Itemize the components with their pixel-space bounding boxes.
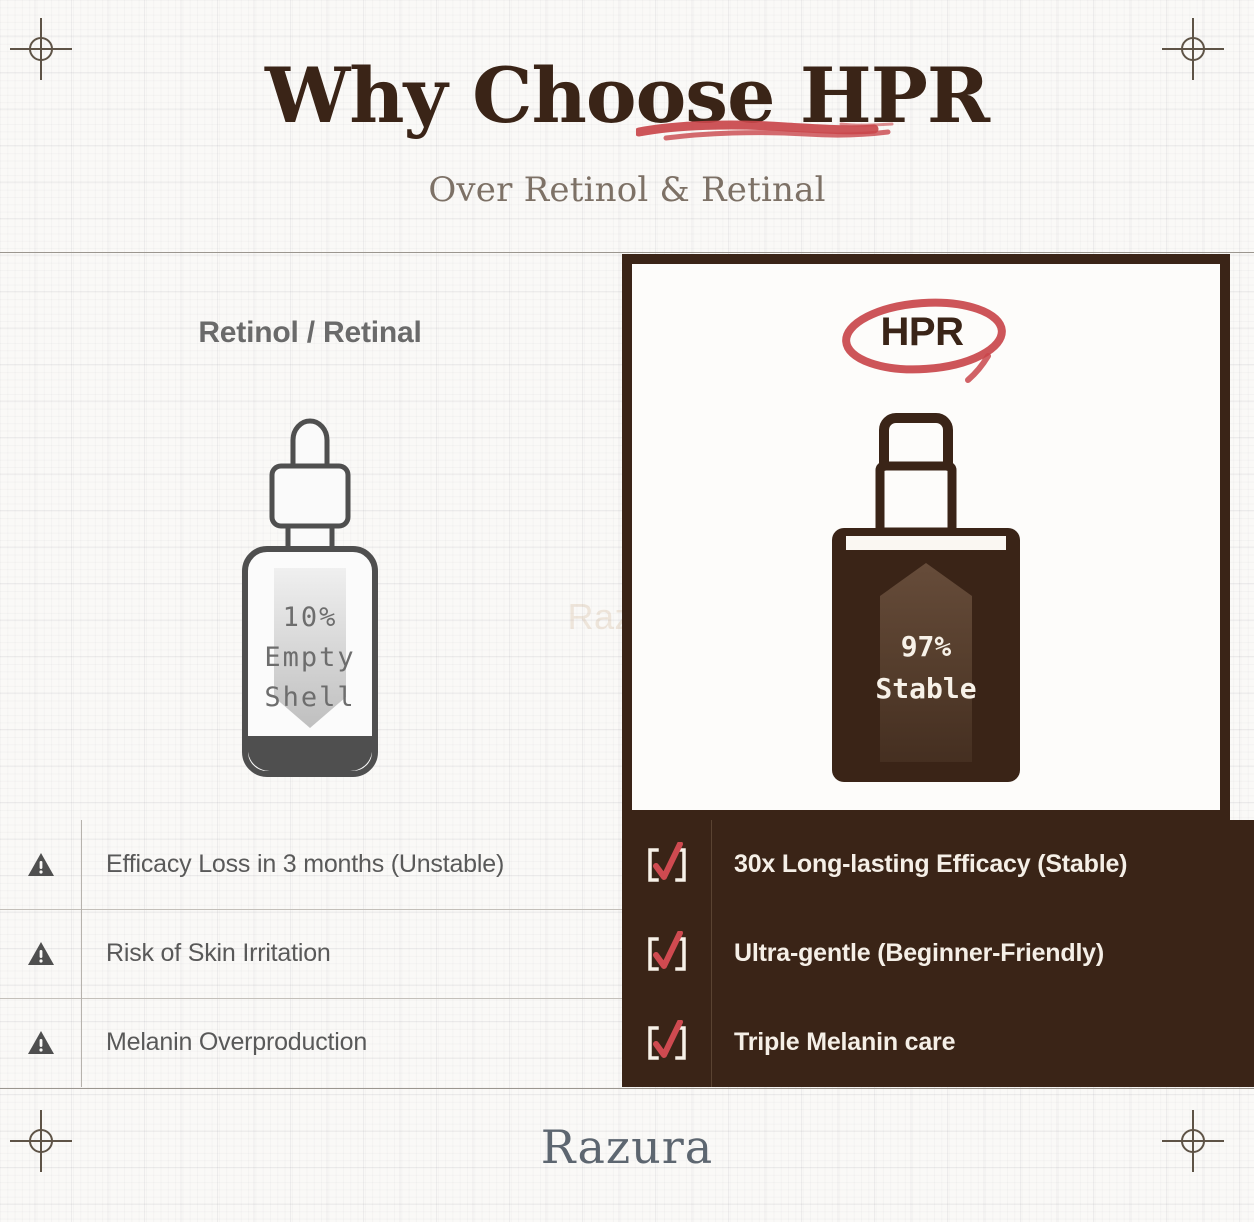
retinol-heading: Retinol / Retinal xyxy=(0,316,620,350)
dropper-bottle-icon: 10% Empty Shell xyxy=(231,416,389,788)
retinol-column: Retinol / Retinal xyxy=(0,254,620,820)
red-check-bracket-icon xyxy=(622,909,712,998)
retinol-line3: Shell xyxy=(264,682,355,713)
comparison-rows: Efficacy Loss in 3 months (Unstable) 30x… xyxy=(0,820,1254,1088)
retinol-cell: Melanin Overproduction xyxy=(0,998,622,1087)
hpr-line2: Stable xyxy=(875,672,976,705)
hpr-cell: 30x Long-lasting Efficacy (Stable) xyxy=(622,820,1254,909)
page-subtitle: Over Retinol & Retinal xyxy=(0,170,1254,210)
hpr-badge: HPR xyxy=(772,292,1072,384)
retinol-row-label: Melanin Overproduction xyxy=(82,1028,367,1057)
retinol-cell: Efficacy Loss in 3 months (Unstable) xyxy=(0,820,622,909)
hpr-badge-label: HPR xyxy=(772,310,1072,355)
retinol-row-label: Efficacy Loss in 3 months (Unstable) xyxy=(82,850,504,879)
brand-footer: Razura xyxy=(0,1120,1254,1174)
table-row: Risk of Skin Irritation Ultra-gentle (Be… xyxy=(0,909,1254,998)
infographic-page: Why Choose HPR Over Retinol & Retinal Ra… xyxy=(0,0,1254,1222)
hpr-cell: Ultra-gentle (Beginner-Friendly) xyxy=(622,909,1254,998)
pump-bottle-icon: 97% Stable xyxy=(824,400,1028,790)
divider-bottom xyxy=(0,1088,1254,1089)
header: Why Choose HPR Over Retinol & Retinal xyxy=(0,0,1254,252)
hpr-row-label: Ultra-gentle (Beginner-Friendly) xyxy=(712,939,1104,968)
retinol-cell: Risk of Skin Irritation xyxy=(0,909,622,998)
hpr-panel: HPR xyxy=(622,254,1230,820)
divider-top xyxy=(0,252,1254,253)
warning-triangle-icon xyxy=(0,820,82,909)
retinol-percent: 10% xyxy=(283,602,338,633)
table-row: Melanin Overproduction Triple Melanin ca… xyxy=(0,998,1254,1087)
page-title: Why Choose HPR xyxy=(265,58,989,134)
warning-triangle-icon xyxy=(0,909,82,998)
red-check-bracket-icon xyxy=(622,998,712,1087)
retinol-line2: Empty xyxy=(264,642,355,673)
hpr-row-label: Triple Melanin care xyxy=(712,1028,955,1057)
hpr-row-label: 30x Long-lasting Efficacy (Stable) xyxy=(712,850,1127,879)
retinol-row-label: Risk of Skin Irritation xyxy=(82,939,331,968)
red-check-bracket-icon xyxy=(622,820,712,909)
hpr-cell: Triple Melanin care xyxy=(622,998,1254,1087)
hpr-percent: 97% xyxy=(901,630,952,663)
table-row: Efficacy Loss in 3 months (Unstable) 30x… xyxy=(0,820,1254,909)
warning-triangle-icon xyxy=(0,998,82,1087)
page-title-wrap: Why Choose HPR xyxy=(0,58,1254,134)
comparison-section: Retinol / Retinal xyxy=(0,252,1254,1088)
